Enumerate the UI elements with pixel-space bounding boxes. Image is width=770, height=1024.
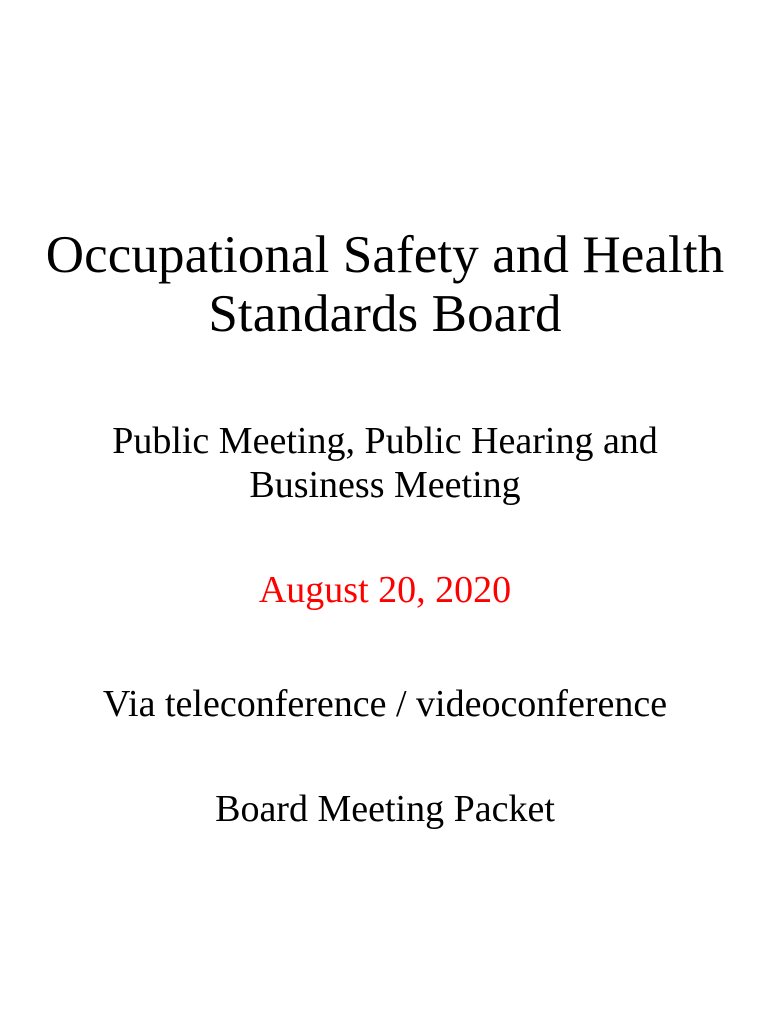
document-page: Occupational Safety and Health Standards… [0,0,770,1024]
meeting-date-text: August 20, 2020 [0,568,770,612]
page-title: Occupational Safety and Health Standards… [0,226,770,344]
meeting-venue-text: Via teleconference / videoconference [0,682,770,726]
meeting-date: August 20, 2020 [0,568,770,612]
packet-label-text: Board Meeting Packet [0,787,770,831]
page-subtitle: Public Meeting, Public Hearing and Busin… [0,419,770,507]
meeting-venue: Via teleconference / videoconference [0,682,770,726]
page-subtitle-line-2: Business Meeting [0,463,770,507]
page-title-line-1: Occupational Safety and Health [0,226,770,285]
page-subtitle-line-1: Public Meeting, Public Hearing and [0,419,770,463]
packet-label: Board Meeting Packet [0,787,770,831]
page-title-line-2: Standards Board [0,285,770,344]
